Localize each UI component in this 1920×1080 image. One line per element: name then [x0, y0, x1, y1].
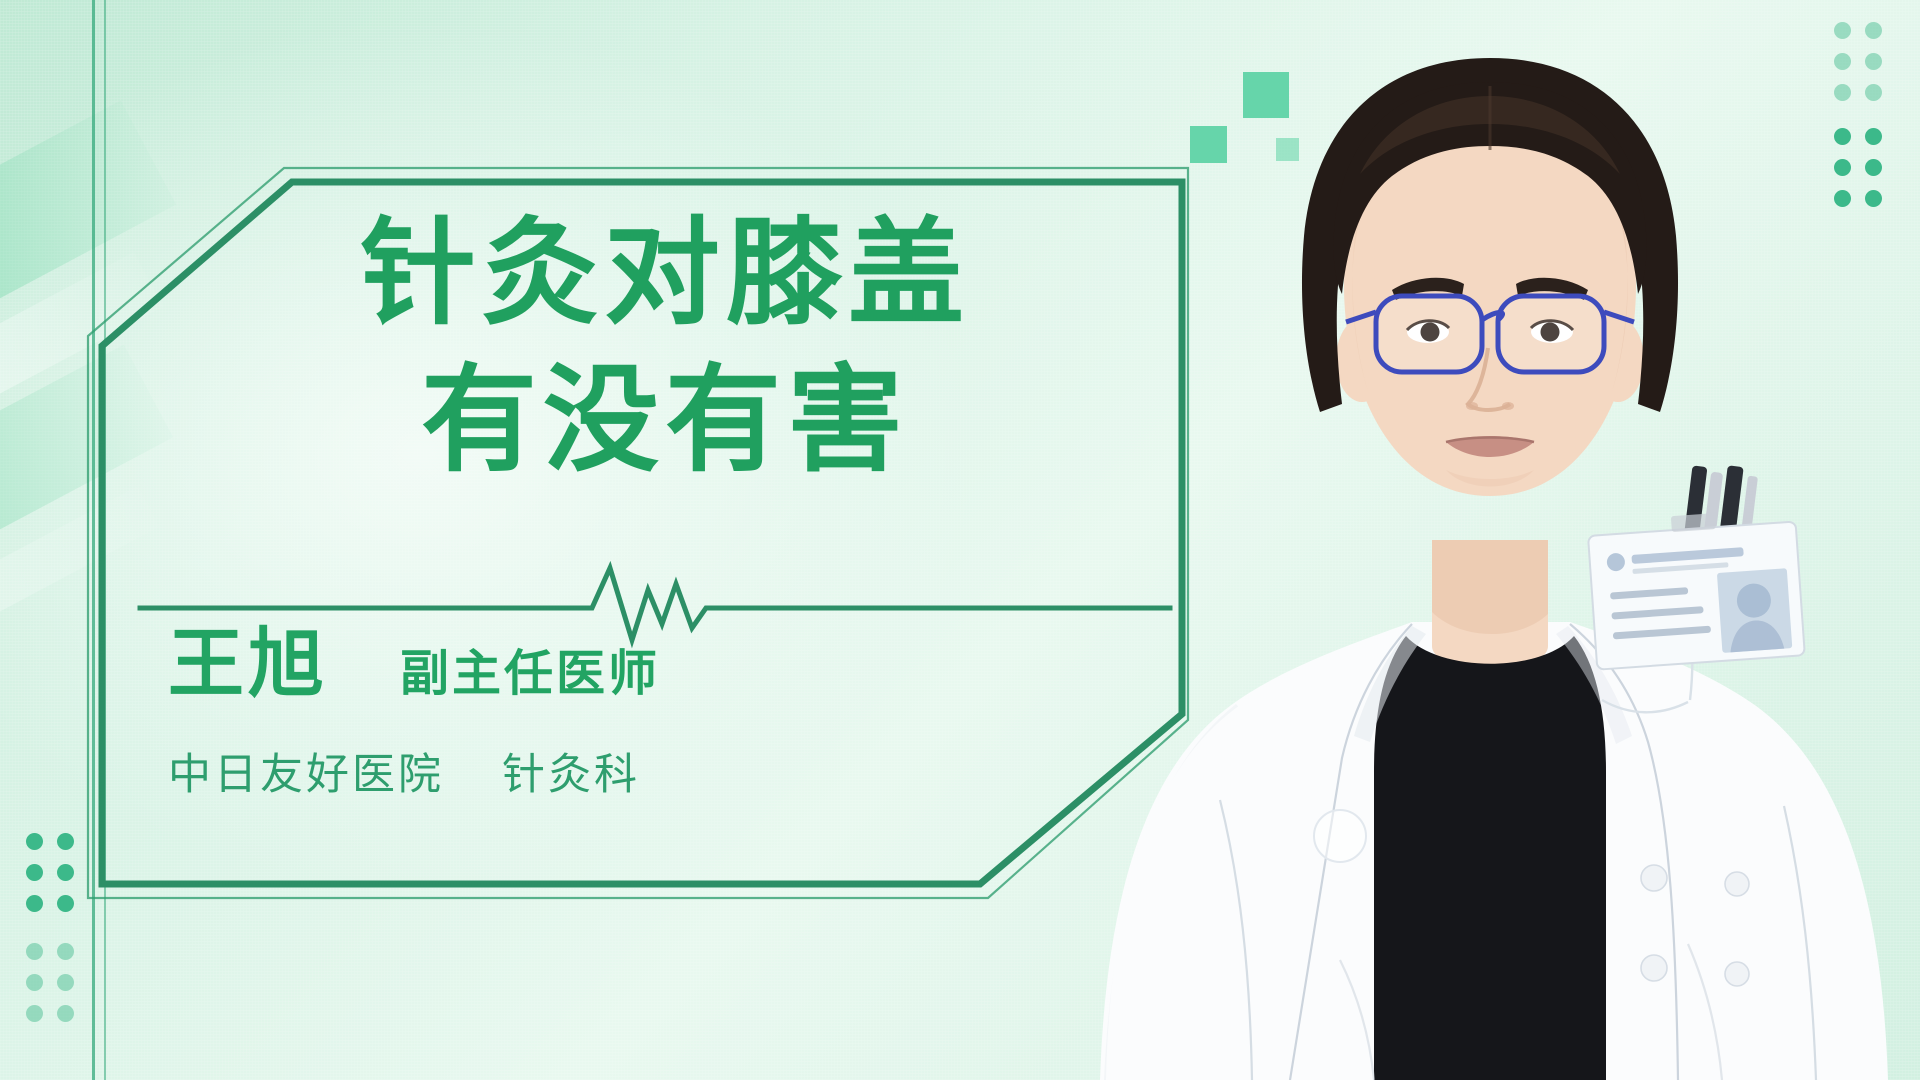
hospital-id-badge — [1587, 508, 1805, 670]
page-title-line-2: 有没有害 — [250, 347, 1080, 494]
doctor-info-block: 王旭 副主任医师 中日友好医院 针灸科 — [168, 622, 988, 802]
decor-dot-grid — [26, 833, 74, 912]
doctor-name-row: 王旭 副主任医师 — [168, 622, 988, 706]
doctor-name: 王旭 — [168, 622, 328, 706]
doctor-rank: 副主任医师 — [400, 634, 660, 705]
doctor-portrait — [1040, 0, 1920, 1080]
doctor-hospital: 中日友好医院 — [168, 740, 444, 802]
doctor-affiliation-row: 中日友好医院 针灸科 — [168, 740, 988, 802]
decor-dot-grid — [26, 943, 74, 1022]
doctor-department: 针灸科 — [502, 740, 640, 802]
title-block: 针灸对膝盖 有没有害 — [250, 200, 1080, 495]
page-title-line-1: 针灸对膝盖 — [250, 200, 1080, 347]
video-cover: 针灸对膝盖 有没有害 王旭 副主任医师 中日友好医院 针灸科 — [0, 0, 1920, 1080]
doctor-portrait-illustration — [1040, 0, 1920, 1080]
